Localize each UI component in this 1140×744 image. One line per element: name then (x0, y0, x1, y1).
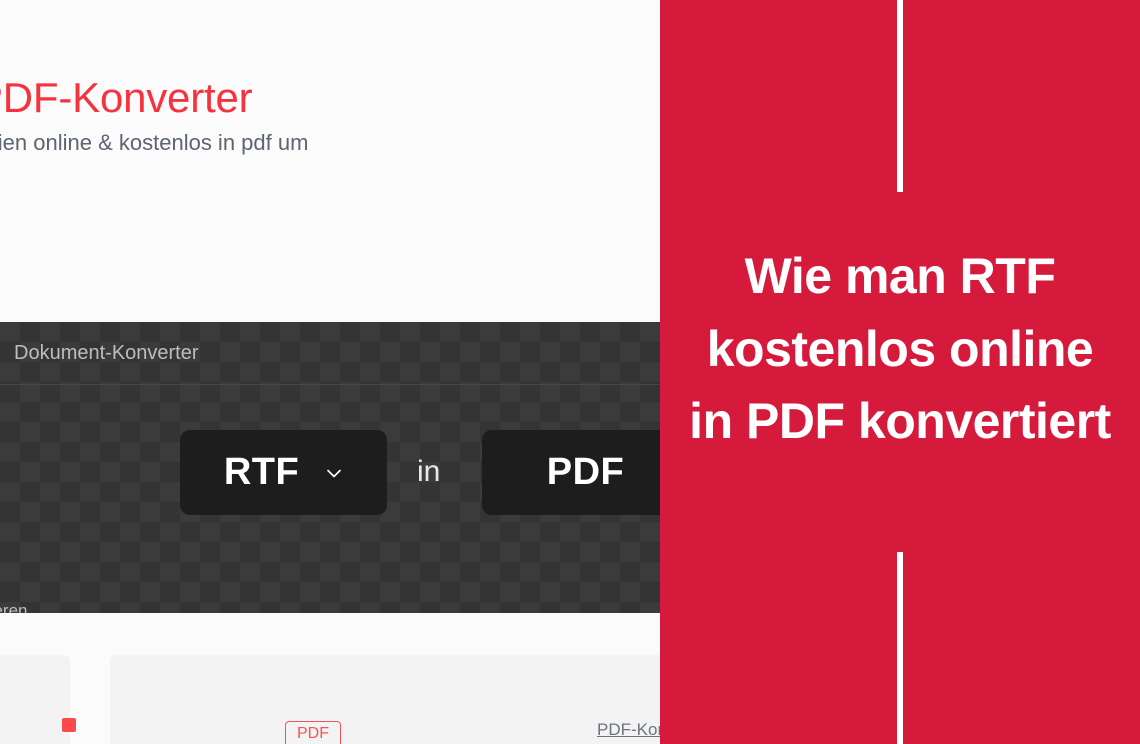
pdf-format-badge: PDF (285, 721, 341, 744)
target-format-dropdown[interactable]: PDF (482, 430, 660, 515)
chevron-down-icon (299, 464, 343, 482)
source-format-dropdown[interactable]: RTF (180, 430, 387, 515)
document-converter-widget: Dokument-Konverter RTF (0, 322, 660, 613)
format-connector-label: in (417, 455, 440, 489)
pdf-converter-link[interactable]: PDF-Kon (597, 720, 667, 740)
screenshot-root: u-PDF-Konverter -Dateien online & kosten… (0, 0, 1140, 744)
overlay-headline: Wie man RTF kostenlos online in PDF konv… (680, 240, 1120, 458)
converter-title: Dokument-Konverter (14, 342, 199, 365)
register-link[interactable]: Registrieren (0, 601, 28, 613)
register-note: er Registrieren (0, 601, 28, 613)
feature-card-right[interactable]: PDF PDF-Kon (110, 655, 670, 744)
target-format-label: PDF (547, 451, 625, 494)
converter-header: Dokument-Konverter (0, 322, 660, 385)
divider-line-bottom (897, 552, 903, 744)
converter-body: RTF in PDF er Registrieren (0, 385, 660, 613)
page-title: u-PDF-Konverter (0, 74, 252, 122)
page-subtitle: -Dateien online & kostenlos in pdf um (0, 130, 308, 156)
red-marker-icon (62, 718, 76, 732)
feature-card-left[interactable] (0, 655, 70, 744)
source-format-label: RTF (224, 451, 299, 494)
red-overlay-panel: Wie man RTF kostenlos online in PDF konv… (660, 0, 1140, 744)
divider-line-top (897, 0, 903, 192)
